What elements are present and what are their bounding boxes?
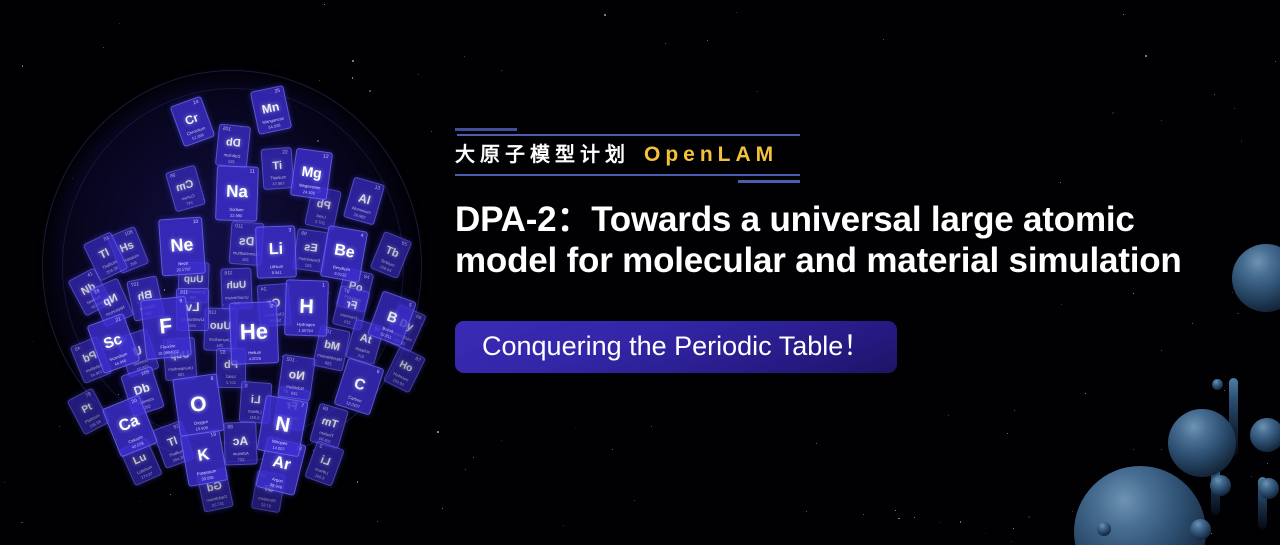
element-mass: 22.990 [216,213,256,219]
star-dot [1085,393,1086,394]
star-dot [1234,108,1236,110]
element-tile: 8OOxygen15.999 [172,373,225,437]
element-atomic-number: 102 [286,357,295,363]
element-atomic-number: 13 [374,185,381,191]
element-mass: 1.00794 [285,328,326,334]
element-atomic-number: 99 [301,232,307,238]
element-tile: 12MgMagnesium24.305 [290,148,333,201]
element-atomic-number: 87 [343,289,350,295]
star-dot [816,443,817,444]
element-atomic-number: 4 [360,234,364,239]
star-dot [898,518,900,520]
element-atomic-number: 67 [414,357,421,364]
element-atomic-number: 78 [85,392,92,399]
kicker-rules-top [455,118,1235,136]
star-dot [563,525,564,526]
element-atomic-number: 7 [300,404,304,409]
element-atomic-number: 3 [319,444,323,450]
element-atomic-number: 22 [282,150,288,155]
star-dot [883,39,884,40]
decoration-sphere [1258,478,1279,499]
star-dot [806,511,807,512]
element-symbol: K [184,445,224,467]
element-atomic-number: 81 [103,236,110,243]
star-dot [1224,390,1225,391]
element-symbol: Es [296,241,326,256]
star-dot [575,428,576,429]
element-tile: 89AcActinium227 [223,421,257,465]
element-symbol: Db [218,136,249,150]
star-dot [377,521,378,522]
cta-conquering-periodic-table-button[interactable]: Conquering the Periodic Table！ [455,321,897,373]
element-tile: 102NoNobelium259 [277,354,316,401]
element-atomic-number: 12 [323,154,329,160]
star-dot [119,23,120,24]
star-dot [634,500,635,501]
star-dot [651,426,652,427]
element-atomic-number: 41 [87,272,94,279]
star-dot [1013,528,1014,529]
element-atomic-number: 20 [131,399,138,406]
rule-bottom-thin [455,174,800,176]
element-symbol: Mn [254,98,288,116]
star-dot [948,415,949,416]
element-atomic-number: 19 [210,433,216,439]
star-dot [1028,516,1030,518]
star-dot [1214,94,1215,95]
star-dot [1237,313,1239,315]
star-dot [1211,533,1212,534]
star-dot [914,517,915,518]
star-dot [1161,449,1162,450]
star-dot [895,510,896,511]
star-dot [707,40,708,41]
element-atomic-number: 108 [124,230,134,238]
element-atomic-number: 5 [408,303,412,309]
element-atomic-number: 69 [322,407,329,413]
element-atomic-number: 8 [210,377,213,382]
decoration-sphere [1250,418,1280,452]
element-symbol: Sc [93,328,133,355]
element-symbol: Be [324,241,364,263]
element-tile: 1HHydrogen1.00794 [284,279,329,336]
decoration-sphere [1210,475,1231,496]
star-dot [863,514,864,515]
element-symbol: Ac [225,435,256,448]
element-mass: 4.0026 [232,356,278,362]
star-dot [21,522,23,524]
star-dot [1145,55,1147,57]
element-symbol: No [281,367,313,383]
star-dot [1014,410,1015,411]
star-dot [501,70,502,71]
star-dot [1133,449,1134,450]
text-block: 大原子模型计划 OpenLAM DPA-2：Towards a universa… [455,118,1235,373]
star-dot [1011,541,1012,542]
element-atomic-number: 24 [261,287,267,292]
element-atomic-number: 11 [249,169,254,174]
star-dot [473,457,474,458]
page-title: DPA-2：Towards a universal large atomic m… [455,199,1245,282]
element-mass: 227 [226,457,257,462]
element-atomic-number: 84 [363,275,370,281]
element-atomic-number: 24 [193,100,200,107]
element-atomic-number: 96 [170,173,177,179]
star-dot [501,440,502,441]
star-dot [442,508,443,509]
star-dot [464,56,465,57]
element-atomic-number: 21 [115,317,122,324]
element-symbol: Md [317,338,348,355]
kicker: 大原子模型计划 OpenLAM [455,138,1235,172]
element-symbol: Uuh [222,280,251,291]
element-atomic-number: 46 [74,346,81,353]
element-mass: 47.867 [264,181,293,187]
element-symbol: F [143,314,189,339]
element-symbol: Ne [160,234,203,255]
star-dot [1241,140,1243,142]
star-dot [940,522,942,524]
star-dot [465,469,466,470]
element-tile: 22TiTitanium47.867 [261,147,295,190]
element-symbol: Li [257,241,296,258]
rule-top-thick [455,128,517,131]
element-tile: 10NeNeon20.1797 [158,217,206,277]
decoration-sphere [1168,409,1236,477]
element-symbol: Mg [294,162,331,181]
decoration-sphere [1212,379,1223,390]
element-atomic-number: 89 [227,425,233,430]
element-symbol: H [286,296,328,317]
star-dot [1072,511,1073,512]
element-atomic-number: 10 [193,220,199,225]
element-symbol: O [176,391,222,418]
element-atomic-number: 2 [270,304,273,309]
star-dot [1267,463,1268,464]
star-dot [1112,112,1114,114]
element-atomic-number: 9 [179,299,182,304]
element-atomic-number: 25 [274,89,280,95]
decoration-sphere [1074,466,1206,545]
star-dot [612,449,613,450]
decoration-sphere [1190,519,1211,540]
element-atomic-number: 118 [208,311,216,316]
element-symbol: C [340,372,379,397]
star-dot [604,14,606,16]
kicker-rules-bottom [455,172,1235,186]
element-atomic-number: 93 [94,289,101,296]
element-atomic-number: 3 [288,228,291,233]
element-atomic-number: 105 [222,127,231,133]
star-dot [736,12,737,13]
element-atomic-number: 110 [235,224,243,230]
element-atomic-number: 82 [220,351,226,356]
star-dot [1251,476,1252,477]
element-tile: 11NaSodium22.990 [215,165,259,221]
rule-bottom-thick [738,180,800,183]
element-tile: 105DbDubnium262 [215,123,251,168]
periodic-table-sphere: 25MnManganese54.93824CrChromium51.996105… [18,40,438,505]
element-atomic-number: 3 [245,384,248,389]
star-dot [1123,14,1124,15]
kicker-chinese-label: 大原子模型计划 [455,138,630,167]
element-symbol: Ti [262,160,292,173]
element-symbol: N [261,412,305,439]
element-atomic-number: 105 [141,370,150,377]
element-symbol: He [231,320,278,344]
star-dot [1007,433,1008,434]
element-tile: 3LiLithium6.941 [304,440,345,487]
star-dot [1275,61,1276,62]
star-dot [960,521,962,523]
element-atomic-number: 107 [131,282,140,289]
element-symbol: Na [217,182,258,200]
element-tile: 9FFluorine18.9984032 [140,296,192,360]
element-symbol: Uup [179,274,208,285]
star-dot [665,43,666,44]
element-atomic-number: 6 [376,370,380,376]
star-dot [757,91,758,92]
banner-root: 25MnManganese54.93824CrChromium51.996105… [0,0,1280,545]
element-mass: 6.941 [258,270,296,276]
element-atomic-number: 1 [322,284,325,289]
rule-top-thin [457,134,800,136]
element-atomic-number: 65 [401,241,408,248]
star-dot [324,4,325,5]
star-dot [4,482,5,483]
element-tile: 2HeHelium4.0026 [229,301,279,365]
element-tile: 3LiLithium6.941 [255,225,297,278]
element-symbol: Pb [309,198,339,215]
star-dot [985,533,986,534]
kicker-brand-openlam: OpenLAM [644,143,778,167]
element-atomic-number: 66 [415,315,422,322]
element-atomic-number: 116 [224,271,232,276]
decoration-sphere [1097,522,1111,536]
